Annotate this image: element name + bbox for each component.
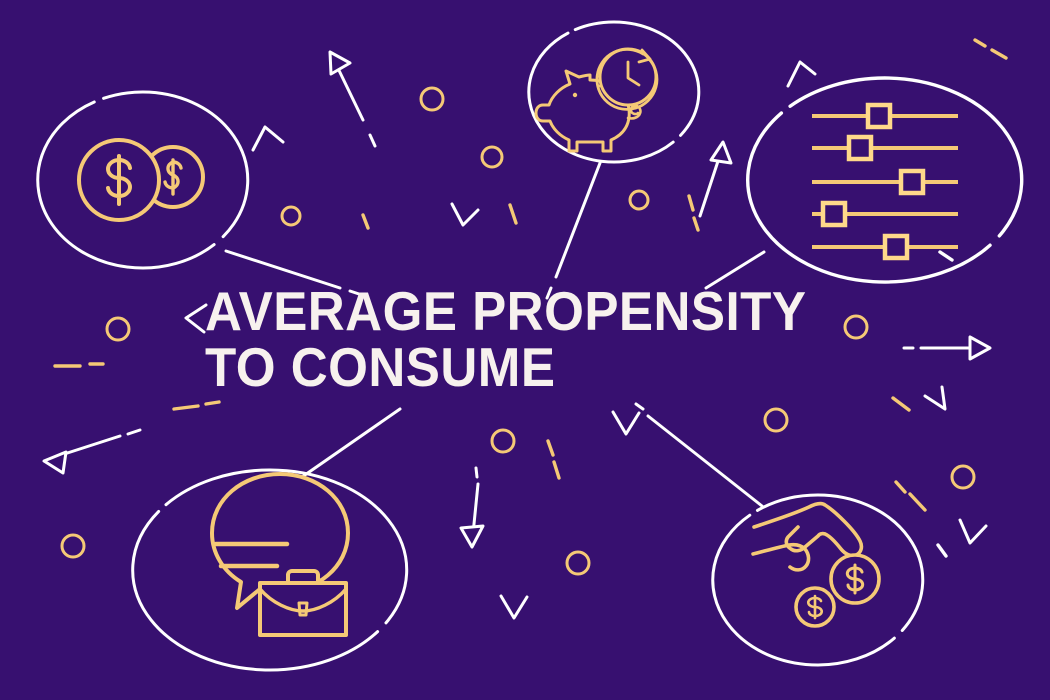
- slider-handle-2[interactable]: [849, 137, 871, 159]
- coin-large-hand-dollar-glyph: [847, 565, 862, 593]
- chevron-icon: [501, 596, 527, 618]
- arrow-head: [44, 452, 66, 473]
- connector-title-to-hand: [648, 416, 762, 506]
- slider-row-3: [812, 171, 958, 193]
- gold-ring-icon: [62, 535, 84, 557]
- hand-bubble-outline: [713, 495, 923, 665]
- gold-dash-icon: [689, 196, 693, 210]
- gold-ring-icon: [845, 316, 867, 338]
- connector-piggy-to-title: [556, 163, 600, 277]
- connector-sliders-to-title: [706, 252, 764, 288]
- gold-dash-icon: [174, 406, 198, 409]
- chevron-icon: [452, 204, 478, 225]
- arrow-right-icon: [904, 337, 990, 359]
- piggy-eye-icon: [573, 93, 577, 97]
- gold-dash-icon: [694, 218, 698, 230]
- slider-handle-1[interactable]: [868, 105, 890, 127]
- gold-ring-icon: [107, 318, 129, 340]
- arrow-head: [711, 142, 731, 163]
- gold-ring-icon: [482, 147, 502, 167]
- gold-dash-icon: [975, 40, 985, 46]
- chevron-icon: [186, 305, 206, 332]
- connector-title-to-chat: [302, 409, 400, 477]
- gold-dash-icon: [554, 462, 559, 478]
- piggy-bank-clock-icon: [536, 49, 657, 151]
- chevron-icon: [613, 412, 639, 434]
- connector-piggy-dash: [547, 288, 551, 298]
- arrow-left-icon: [44, 430, 140, 473]
- coin-small-hand-dollar-glyph: [808, 596, 822, 618]
- slider-handle-5[interactable]: [885, 236, 907, 258]
- chevron-icon: [925, 387, 945, 409]
- equalizer-sliders-icon: [812, 105, 958, 258]
- two-dollar-coins-icon: [79, 140, 203, 220]
- connector-coins-dash: [350, 291, 362, 295]
- arrow-up-left-icon: [330, 52, 375, 146]
- decoration-white-arrows: [44, 52, 990, 547]
- hand-with-coins-icon: [753, 504, 879, 626]
- chevron-icon: [788, 62, 815, 86]
- coins-bubble[interactable]: [38, 92, 248, 268]
- white-dash-icon: [938, 545, 946, 556]
- sliders-bubble[interactable]: [748, 78, 1022, 282]
- slider-row-4: [812, 203, 958, 225]
- arrow-tail-dash: [370, 135, 375, 146]
- chevron-icon: [960, 520, 986, 543]
- hand-coins-bubble[interactable]: [713, 495, 923, 665]
- arrow-head: [970, 337, 990, 359]
- slider-row-2: [812, 137, 958, 159]
- slider-row-5: [812, 236, 958, 258]
- arrow-head: [461, 526, 483, 547]
- gold-dash-icon: [992, 50, 1006, 58]
- slider-handle-4[interactable]: [823, 203, 845, 225]
- gold-ring-icon: [952, 466, 974, 488]
- connector-hand-dash: [636, 404, 643, 409]
- gold-dash-icon: [510, 205, 516, 223]
- poster-artwork: [0, 0, 1050, 700]
- chat-briefcase-bubble[interactable]: [133, 470, 407, 670]
- arrow-down-icon: [461, 468, 483, 547]
- poster-canvas: AVERAGE PROPENSITY TO CONSUME: [0, 0, 1050, 700]
- chevron-icon: [253, 127, 283, 150]
- slider-handle-3[interactable]: [901, 171, 923, 193]
- gold-dash-icon: [206, 402, 219, 404]
- gold-ring-icon: [567, 552, 589, 574]
- connector-coins-to-title: [226, 251, 340, 288]
- gold-ring-icon: [630, 191, 648, 209]
- white-dash-icon: [940, 252, 952, 260]
- gold-ring-icon: [765, 409, 787, 431]
- gold-dash-icon: [548, 441, 553, 455]
- gold-ring-icon: [421, 88, 443, 110]
- arrow-tail-dash: [128, 430, 140, 434]
- connector-lines: [226, 163, 764, 506]
- gold-dash-icon: [896, 482, 905, 492]
- gold-dash-icon: [363, 215, 368, 228]
- speech-bubble-briefcase-icon: [212, 474, 348, 635]
- briefcase-body-icon: [260, 583, 346, 635]
- gold-dash-icon: [910, 494, 925, 510]
- arrow-tail-dash: [476, 468, 477, 477]
- gold-dash-icon: [893, 398, 909, 410]
- gold-ring-icon: [492, 430, 514, 452]
- coin-small-dollar-glyph: [165, 160, 181, 194]
- arrow-up-right-icon: [700, 142, 731, 216]
- slider-row-1: [812, 105, 958, 127]
- piggy-clock-bubble[interactable]: [529, 22, 699, 162]
- gold-ring-icon: [282, 207, 300, 225]
